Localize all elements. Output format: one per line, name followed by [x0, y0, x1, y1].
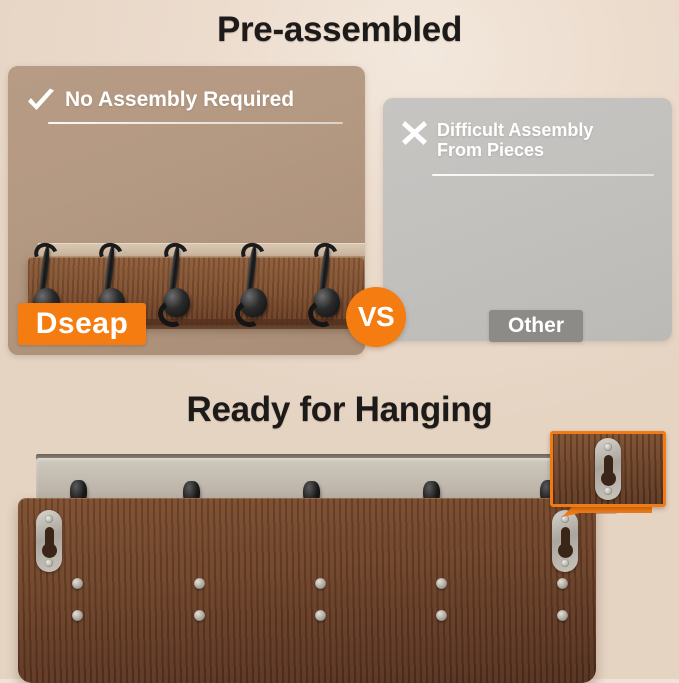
- callout-keyhole-detail: [550, 431, 666, 507]
- panel-right-label-line2: From Pieces: [437, 140, 544, 160]
- screw: [557, 578, 568, 589]
- screw: [315, 610, 326, 621]
- panel-left-divider: [48, 122, 343, 124]
- versus-badge: VS: [346, 287, 406, 347]
- screw: [315, 578, 326, 589]
- check-icon: [26, 88, 56, 120]
- keyhole-hanger-zoomed: [595, 438, 621, 500]
- infographic-canvas: Pre-assembled No Assembly Required: [0, 0, 679, 679]
- page-title-bottom: Ready for Hanging: [0, 390, 679, 430]
- page-title-top: Pre-assembled: [0, 10, 679, 50]
- rack-board-rear: [18, 498, 596, 683]
- brand-badge-other: Other: [489, 310, 583, 342]
- screw: [557, 610, 568, 621]
- cross-icon: [401, 120, 428, 151]
- panel-right-header: Difficult Assembly From Pieces: [383, 98, 672, 160]
- screw: [194, 610, 205, 621]
- panel-right-divider: [432, 174, 654, 176]
- panel-left-label: No Assembly Required: [65, 88, 294, 112]
- screw: [436, 578, 447, 589]
- screw: [436, 610, 447, 621]
- comparison-panel-other: Difficult Assembly From Pieces: [383, 98, 672, 341]
- panel-right-label-line1: Difficult Assembly: [437, 120, 593, 140]
- brand-badge-dseap: Dseap: [18, 303, 146, 345]
- panel-right-label: Difficult Assembly From Pieces: [437, 120, 593, 160]
- screw: [72, 610, 83, 621]
- screw: [194, 578, 205, 589]
- panel-left-header: No Assembly Required: [8, 66, 365, 120]
- keyhole-hanger: [36, 510, 62, 572]
- screw: [72, 578, 83, 589]
- hook: [162, 245, 192, 323]
- hook: [312, 245, 342, 323]
- hook: [239, 245, 269, 323]
